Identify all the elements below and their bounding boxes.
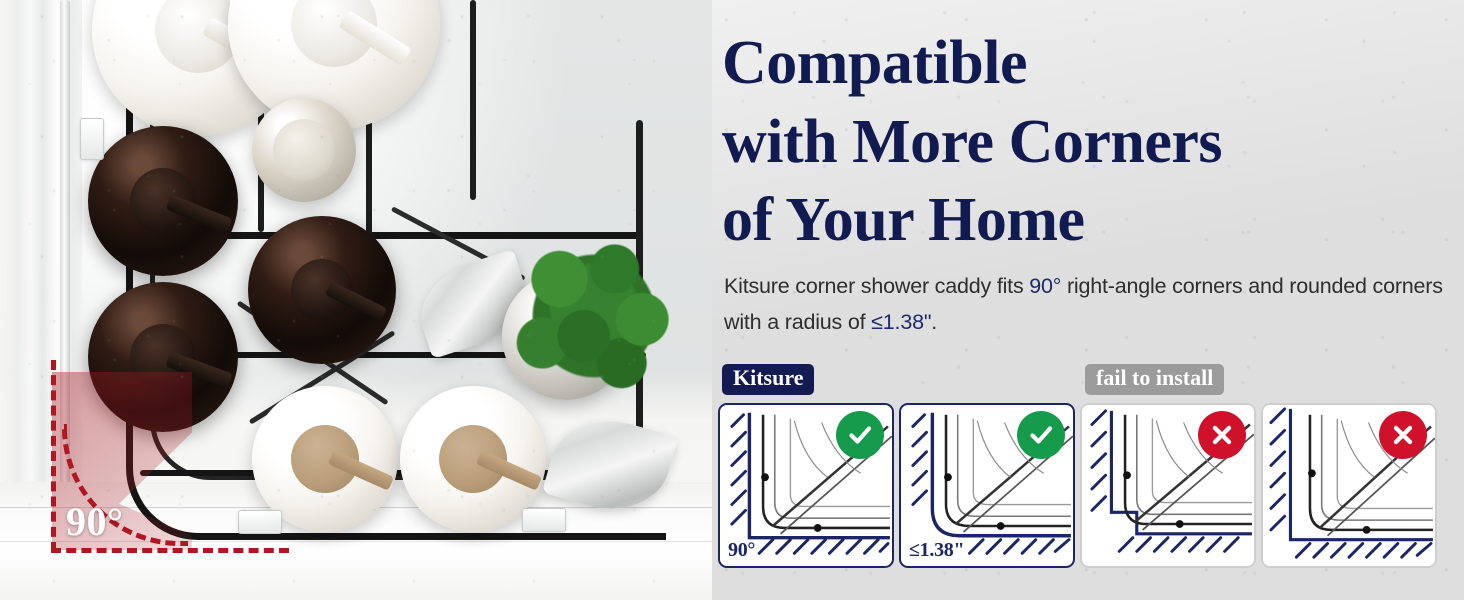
compatibility-card-90deg[interactable]: 90° [718, 403, 894, 568]
promo-banner: 90° Compatible with More Corners of Your… [0, 0, 1464, 600]
card-label: 90° [728, 539, 755, 562]
bottle-dark-brown [88, 126, 238, 276]
status-badge-fail: fail to install [1085, 364, 1224, 395]
subcopy-highlight-angle: 90° [1029, 274, 1061, 298]
subcopy-part-1: Kitsure corner shower caddy fits [724, 274, 1029, 298]
headline-line-2: with More Corners [722, 103, 1462, 182]
cross-glyph [1388, 420, 1418, 450]
product-photo: 90° [0, 0, 712, 600]
angle-horizontal-line [51, 548, 289, 553]
cross-icon [1379, 411, 1427, 459]
content-pane: Compatible with More Corners of Your Hom… [712, 0, 1464, 600]
compatibility-card-radius[interactable]: ≤1.38" [899, 403, 1075, 568]
status-badge-kitsure: Kitsure [722, 364, 814, 395]
headline-line-3: of Your Home [722, 181, 1462, 260]
bottle-dark-brown [248, 216, 396, 364]
subcopy-part-3: . [931, 310, 937, 334]
headline-line-1: Compatible [722, 24, 1462, 103]
check-icon [836, 411, 884, 459]
page-title: Compatible with More Corners of Your Hom… [722, 24, 1462, 260]
card-label: ≤1.38" [909, 539, 964, 562]
subcopy: Kitsure corner shower caddy fits 90° rig… [724, 268, 1450, 340]
angle-annotation: 90° [44, 360, 294, 565]
subcopy-highlight-radius: ≤1.38" [871, 310, 931, 334]
compatibility-card-stepped-fail[interactable] [1080, 403, 1256, 568]
caddy-vertical-bar [470, 0, 476, 200]
cross-glyph [1207, 420, 1237, 450]
check-glyph [845, 420, 875, 450]
compatibility-card-sharp-fail[interactable] [1261, 403, 1437, 568]
compatibility-card-list: 90° [718, 403, 1437, 568]
cross-icon [1198, 411, 1246, 459]
jar-tan [252, 98, 356, 202]
mount-clip [80, 118, 104, 160]
angle-label: 90° [66, 498, 124, 545]
mount-clip [522, 508, 566, 532]
check-icon [1017, 411, 1065, 459]
check-glyph [1026, 420, 1056, 450]
angle-vertical-line [51, 360, 56, 552]
